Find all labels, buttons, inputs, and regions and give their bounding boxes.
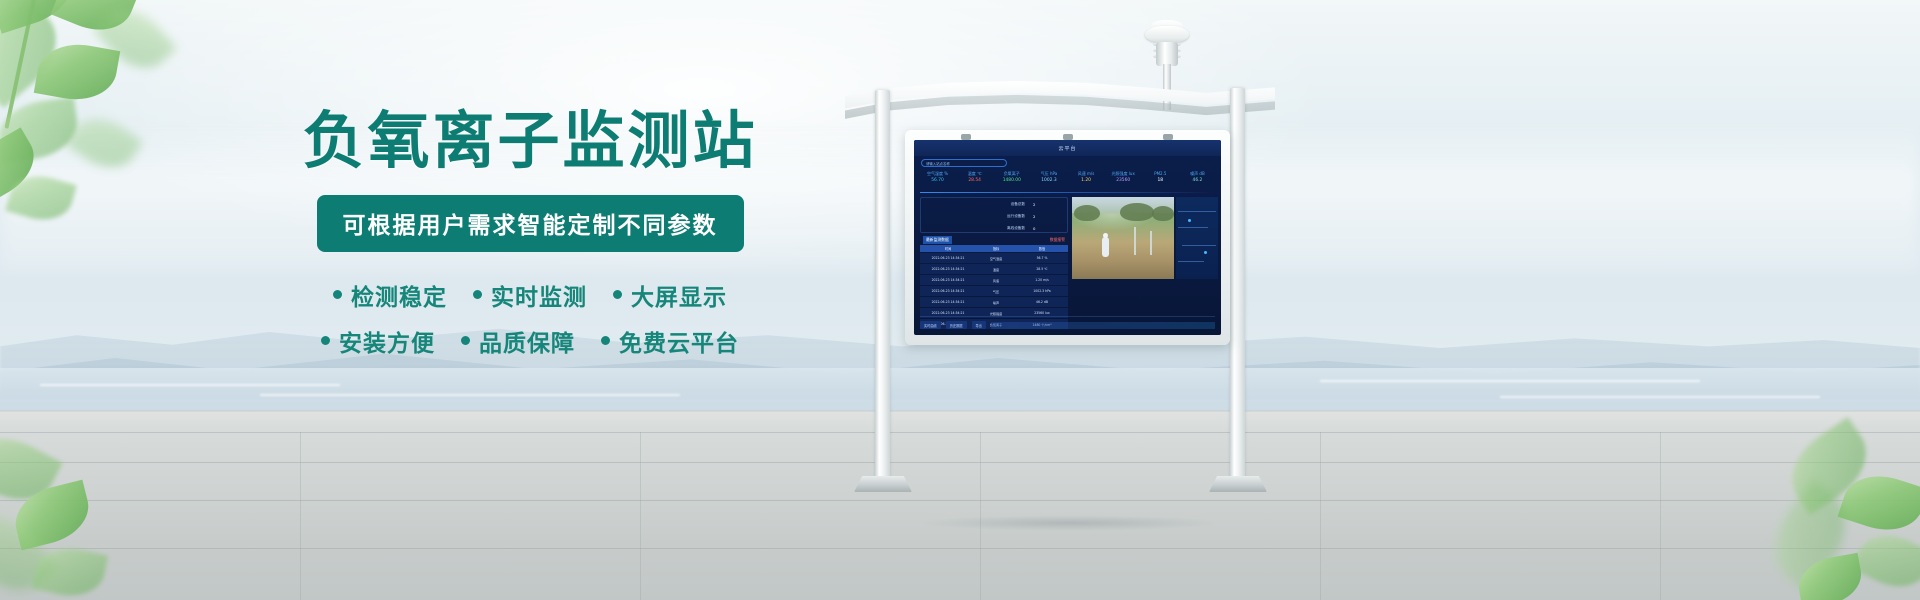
search-placeholder: 请输入站点名称 — [926, 161, 950, 166]
cell-metric: 风速 — [976, 278, 1016, 283]
cell-metric: 气压 — [976, 289, 1016, 294]
stat-value: 2 — [1033, 214, 1059, 219]
map-marker[interactable] — [1188, 219, 1191, 222]
alert-badge: 数据报警 — [1050, 237, 1065, 243]
kpi-card: 空气湿度 % 56.70 — [919, 171, 956, 185]
cell-time: 2022-06-23 14:34:21 — [920, 256, 976, 260]
hero-banner: 负氧离子监测站 可根据用户需求智能定制不同参数 检测稳定 实时监测 大屏显示 — [0, 0, 1920, 600]
pavement-line — [1660, 432, 1661, 600]
bullet-dot-icon — [333, 290, 342, 299]
map-line — [1178, 211, 1216, 212]
cell-time: 2022-06-23 14:34:21 — [920, 278, 976, 282]
column-header: 指标 — [976, 246, 1016, 251]
cell-metric: 空气湿度 — [976, 256, 1016, 261]
divider — [920, 192, 1215, 193]
map-line — [1178, 261, 1204, 262]
page-title: 负氧离子监测站 — [300, 108, 760, 175]
cell-metric: 噪声 — [976, 300, 1016, 305]
kpi-value: 1.20 — [1068, 177, 1105, 184]
cell-time: 2022-06-23 14:34:21 — [920, 300, 976, 304]
stat-label: 离线设备数 — [929, 226, 1033, 231]
feature-item: 品质保障 — [461, 324, 575, 358]
subtitle-wrapper: 可根据用户需求智能定制不同参数 — [300, 195, 760, 252]
kpi-card: 光照强度 lux 23560 — [1105, 171, 1142, 185]
feature-item: 安装方便 — [321, 324, 435, 358]
kpi-value: 28.54 — [956, 177, 993, 184]
kiosk-foot-left — [854, 476, 912, 492]
photo-tree — [1152, 206, 1174, 221]
sensor-body — [1156, 42, 1178, 66]
water-streak — [40, 384, 340, 386]
monitoring-station-kiosk: 云平台 请输入站点名称 空气湿度 % 56.70 温度 ℃ 28.54 负 — [845, 18, 1275, 578]
stat-label: 运行设备数 — [929, 214, 1033, 219]
kpi-value: 1002.3 — [1030, 177, 1067, 184]
photo-tree — [1120, 203, 1154, 221]
cell-metric: 光照强度 — [976, 311, 1016, 316]
bullet-dot-icon — [613, 290, 622, 299]
cell-value: 1.20 m/s — [1016, 278, 1068, 282]
station-search-input[interactable]: 请输入站点名称 — [921, 159, 1007, 167]
table-row[interactable]: 2022-06-23 14:34:21 噪声 46.2 dB — [920, 297, 1068, 307]
dashboard-header: 云平台 — [914, 140, 1221, 156]
hero-copy: 负氧离子监测站 可根据用户需求智能定制不同参数 检测稳定 实时监测 大屏显示 — [300, 108, 760, 370]
table-header-bar: 最新监测数据 数据报警 — [920, 236, 1068, 244]
stat-row: 设备总数 2 — [921, 198, 1067, 210]
kiosk-post-left — [875, 90, 890, 480]
kiosk-canopy — [845, 80, 1275, 136]
device-stats-box: 设备总数 2 运行设备数 2 离线设备数 0 — [920, 197, 1068, 233]
kpi-card: 负氧离子 1480.00 — [993, 171, 1030, 185]
feature-label: 免费云平台 — [619, 324, 739, 358]
feature-label: 大屏显示 — [631, 278, 727, 312]
stat-row: 离线设备数 0 — [921, 222, 1067, 234]
footer-pill[interactable]: 历史数据 — [946, 321, 967, 329]
bullet-dot-icon — [321, 336, 330, 345]
water-streak — [1500, 396, 1820, 398]
photo-pole — [1134, 227, 1136, 255]
kpi-value: 1480.00 — [993, 177, 1030, 184]
feature-item: 检测稳定 — [333, 278, 447, 312]
feature-row: 安装方便 品质保障 免费云平台 — [300, 324, 760, 358]
table-row[interactable]: 2022-06-23 14:34:21 气压 1002.3 hPa — [920, 286, 1068, 296]
kpi-value: 56.70 — [919, 177, 956, 184]
feature-item: 免费云平台 — [601, 324, 739, 358]
stat-label: 设备总数 — [929, 202, 1033, 207]
dashboard-footer: 实时曲线 历史数据 导出 — [920, 316, 1215, 330]
kiosk-foot-right — [1209, 476, 1267, 492]
bullet-dot-icon — [461, 336, 470, 345]
pavement-line — [1320, 432, 1321, 600]
footer-pill[interactable]: 导出 — [972, 321, 986, 329]
site-map[interactable] — [1176, 197, 1218, 279]
feature-list: 检测稳定 实时监测 大屏显示 安装方便 品质保障 — [300, 278, 760, 358]
kpi-card: 风速 m/s 1.20 — [1068, 171, 1105, 185]
stat-row: 运行设备数 2 — [921, 210, 1067, 222]
feature-item: 大屏显示 — [613, 278, 727, 312]
dashboard-screen[interactable]: 云平台 请输入站点名称 空气湿度 % 56.70 温度 ℃ 28.54 负 — [914, 140, 1221, 335]
feature-item: 实时监测 — [473, 278, 587, 312]
cell-time: 2022-06-23 14:34:21 — [920, 267, 976, 271]
feature-label: 品质保障 — [479, 324, 575, 358]
kpi-value: 18 — [1142, 177, 1179, 184]
site-camera-photo — [1072, 197, 1174, 279]
cell-time: 2022-06-23 14:34:21 — [920, 311, 976, 315]
cell-value: 56.7 % — [1016, 256, 1068, 260]
photo-person-head — [1103, 233, 1108, 238]
feature-label: 实时监测 — [491, 278, 587, 312]
display-panel: 云平台 请输入站点名称 空气湿度 % 56.70 温度 ℃ 28.54 负 — [905, 130, 1230, 345]
cell-time: 2022-06-23 14:34:21 — [920, 289, 976, 293]
table-row[interactable]: 2022-06-23 14:34:21 风速 1.20 m/s — [920, 275, 1068, 285]
column-header: 数值 — [1016, 246, 1068, 251]
pavement-line — [640, 432, 641, 600]
photo-tree — [1074, 205, 1100, 221]
cell-value: 1002.3 hPa — [1016, 289, 1068, 293]
kpi-value: 23560 — [1105, 177, 1142, 184]
kpi-card: 噪声 dB 46.2 — [1179, 171, 1216, 185]
kiosk-post-right — [1230, 88, 1245, 480]
kpi-card: PM2.5 18 — [1142, 171, 1179, 185]
footer-sparkline — [991, 322, 1215, 329]
stat-value: 0 — [1033, 226, 1059, 231]
cell-value: 46.2 dB — [1016, 300, 1068, 304]
bullet-dot-icon — [473, 290, 482, 299]
map-line — [1178, 227, 1208, 228]
subtitle-badge: 可根据用户需求智能定制不同参数 — [317, 195, 744, 252]
feature-row: 检测稳定 实时监测 大屏显示 — [300, 278, 760, 312]
table-row[interactable]: 2022-06-23 14:34:21 空气湿度 56.7 % — [920, 253, 1068, 263]
bullet-dot-icon — [601, 336, 610, 345]
feature-label: 安装方便 — [339, 324, 435, 358]
photo-person — [1102, 237, 1109, 257]
kpi-card: 温度 ℃ 28.54 — [956, 171, 993, 185]
dashboard-title: 云平台 — [1058, 145, 1076, 152]
photo-pole — [1150, 231, 1152, 255]
water-streak — [1320, 380, 1700, 382]
map-marker[interactable] — [1204, 251, 1207, 254]
kpi-value: 46.2 — [1179, 177, 1216, 184]
kpi-strip: 空气湿度 % 56.70 温度 ℃ 28.54 负氧离子 1480.00 气压 … — [919, 171, 1216, 185]
table-title: 最新监测数据 — [923, 236, 952, 244]
table-column-header: 时间 指标 数值 — [920, 245, 1068, 252]
kpi-card: 气压 hPa 1002.3 — [1030, 171, 1067, 185]
sensor-radiation-shield — [1145, 26, 1189, 43]
cell-value: 23560 lux — [1016, 311, 1068, 315]
water-streak — [260, 394, 680, 396]
cell-value: 28.5 ℃ — [1016, 267, 1068, 271]
cell-metric: 温度 — [976, 267, 1016, 272]
pavement-line — [300, 432, 301, 600]
column-header: 时间 — [920, 246, 976, 251]
stat-value: 2 — [1033, 202, 1059, 207]
feature-label: 检测稳定 — [351, 278, 447, 312]
footer-pill[interactable]: 实时曲线 — [920, 321, 941, 329]
map-line — [1182, 245, 1216, 246]
table-row[interactable]: 2022-06-23 14:34:21 温度 28.5 ℃ — [920, 264, 1068, 274]
